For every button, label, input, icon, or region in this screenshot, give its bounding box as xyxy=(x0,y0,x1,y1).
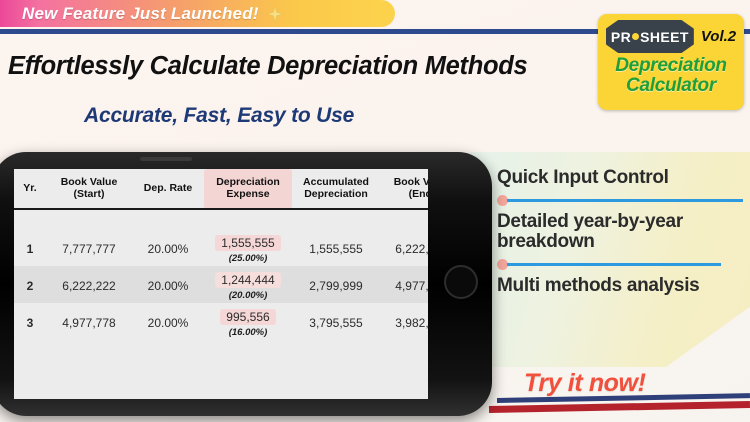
cell-book-value-end: 4,977,778 xyxy=(380,266,428,303)
cell-accumulated-depreciation: 3,795,555 xyxy=(292,303,380,340)
expense-value: 1,244,444 xyxy=(215,272,280,288)
page-title: Effortlessly Calculate Depreciation Meth… xyxy=(8,52,588,81)
divider-line xyxy=(507,263,721,266)
column-header-dep-rate: Dep. Rate xyxy=(132,169,204,209)
expense-percent: (25.00%) xyxy=(205,253,291,264)
prosheet-badge-icon: PR SHEET xyxy=(606,20,694,53)
footer-bar-red xyxy=(489,401,750,413)
brand-separator-dot-icon xyxy=(632,33,639,40)
cell-yr: 2 xyxy=(14,266,46,303)
feature-item-multi-methods: Multi methods analysis xyxy=(497,276,747,297)
table-body: 1 7,777,777 20.00% 1,555,555 (25.00%) 1,… xyxy=(14,209,428,340)
feature-label: Detailed year-by-year breakdown xyxy=(497,212,747,253)
column-header-yr: Yr. xyxy=(14,169,46,209)
table-row[interactable]: 2 6,222,222 20.00% 1,244,444 (20.00%) 2,… xyxy=(14,266,428,303)
page-subtitle: Accurate, Fast, Easy to Use xyxy=(84,104,524,128)
cell-book-value-start: 6,222,222 xyxy=(46,266,132,303)
expense-percent: (16.00%) xyxy=(205,327,291,338)
new-feature-banner: New Feature Just Launched! xyxy=(0,0,395,27)
cell-book-value-start: 4,977,778 xyxy=(46,303,132,340)
feature-item-quick-input: Quick Input Control xyxy=(497,168,747,189)
table-row[interactable]: 3 4,977,778 20.00% 995,556 (16.00%) 3,79… xyxy=(14,303,428,340)
column-header-depreciation-expense: Depreciation Expense xyxy=(204,169,292,209)
table-header: Yr. Book Value (Start) Dep. Rate Depreci… xyxy=(14,169,428,209)
table-header-row: Yr. Book Value (Start) Dep. Rate Depreci… xyxy=(14,169,428,209)
feature-divider-2 xyxy=(497,258,747,270)
feature-item-yearly-breakdown: Detailed year-by-year breakdown xyxy=(497,212,747,253)
banner-label: New Feature Just Launched! xyxy=(22,4,259,24)
cell-yr: 3 xyxy=(14,303,46,340)
cell-depreciation-expense: 995,556 (16.00%) xyxy=(204,303,292,340)
expense-value: 1,555,555 xyxy=(215,235,280,251)
cell-book-value-end: 6,222,222 xyxy=(380,229,428,266)
try-it-now-cta[interactable]: Try it now! xyxy=(524,369,646,398)
expense-value: 995,556 xyxy=(220,309,275,325)
expense-percent: (20.00%) xyxy=(205,290,291,301)
phone-mockup: Yr. Book Value (Start) Dep. Rate Depreci… xyxy=(0,152,492,416)
product-logo: PR SHEET Vol.2 Depreciation Calculator xyxy=(598,14,744,110)
logo-volume-label: Vol.2 xyxy=(701,28,736,45)
speaker-grille-icon xyxy=(140,157,192,161)
promo-banner-canvas: New Feature Just Launched! Effortlessly … xyxy=(0,0,750,422)
sparkle-icon xyxy=(267,6,283,22)
cell-depreciation-expense: 1,555,555 (25.00%) xyxy=(204,229,292,266)
brand-part-1: PR xyxy=(611,29,631,45)
cell-depreciation-expense: 1,244,444 (20.00%) xyxy=(204,266,292,303)
feature-label: Quick Input Control xyxy=(497,168,747,189)
brand-part-2: SHEET xyxy=(640,29,689,45)
cell-dep-rate: 20.00% xyxy=(132,303,204,340)
phone-screen: Yr. Book Value (Start) Dep. Rate Depreci… xyxy=(14,169,428,399)
table-spacer xyxy=(14,209,428,229)
divider-line xyxy=(507,199,743,202)
logo-product-line-1: Depreciation xyxy=(615,56,727,76)
cell-yr: 1 xyxy=(14,229,46,266)
column-header-accumulated-depreciation: Accumulated Depreciation xyxy=(292,169,380,209)
features-list: Quick Input Control Detailed year-by-yea… xyxy=(497,168,747,296)
column-header-book-value-end: Book Value (End) xyxy=(380,169,428,209)
home-button-icon[interactable] xyxy=(444,265,478,299)
feature-divider-1 xyxy=(497,194,747,206)
badge-wordmark: PR SHEET xyxy=(611,29,689,45)
logo-top-row: PR SHEET Vol.2 xyxy=(606,20,736,53)
cell-accumulated-depreciation: 2,799,999 xyxy=(292,266,380,303)
cell-book-value-end: 3,982,222 xyxy=(380,303,428,340)
depreciation-table: Yr. Book Value (Start) Dep. Rate Depreci… xyxy=(14,169,428,340)
cell-book-value-start: 7,777,777 xyxy=(46,229,132,266)
column-header-book-value-start: Book Value (Start) xyxy=(46,169,132,209)
cell-dep-rate: 20.00% xyxy=(132,229,204,266)
logo-product-line-2: Calculator xyxy=(626,76,716,96)
table-row[interactable]: 1 7,777,777 20.00% 1,555,555 (25.00%) 1,… xyxy=(14,229,428,266)
cell-accumulated-depreciation: 1,555,555 xyxy=(292,229,380,266)
feature-label: Multi methods analysis xyxy=(497,276,747,297)
cell-dep-rate: 20.00% xyxy=(132,266,204,303)
